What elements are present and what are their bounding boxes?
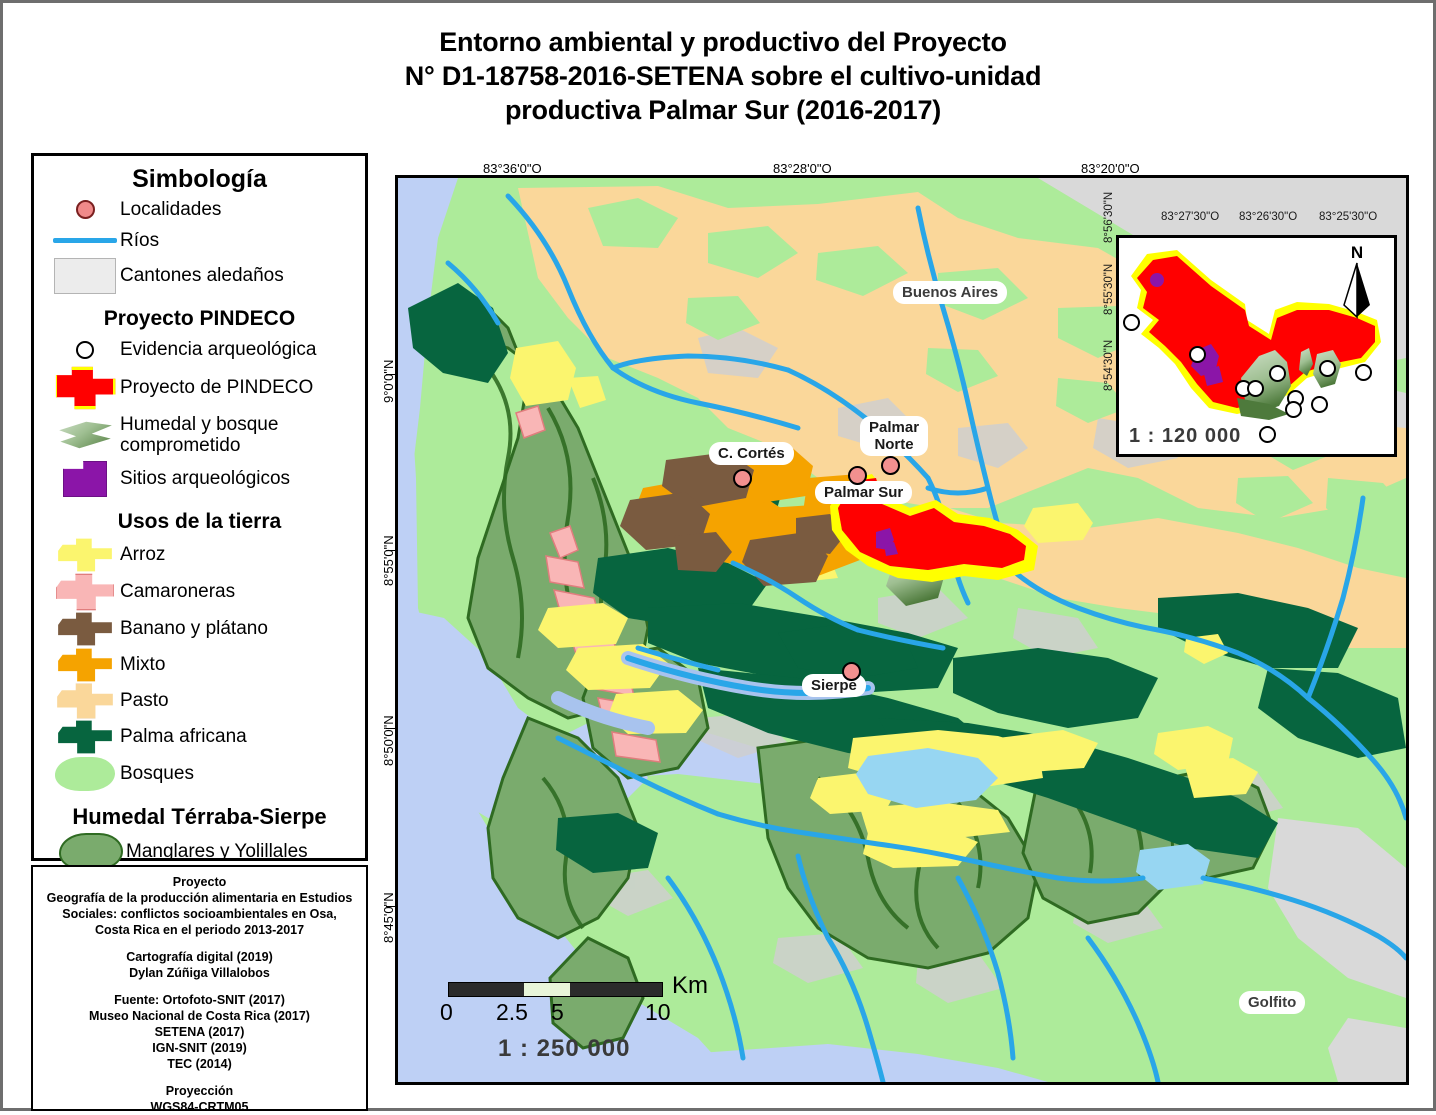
legend-label: Sitios arqueológicos — [120, 468, 290, 490]
pindeco-area-swatch-icon — [50, 365, 120, 411]
credit-line: Proyección — [33, 1083, 366, 1099]
legend-label: Camaroneras — [120, 581, 235, 603]
legend-section-usos: Usos de la tierra — [34, 510, 365, 534]
legend-label: Mixto — [120, 654, 165, 676]
locality-label-palmar-norte: Palmar Norte — [862, 418, 926, 454]
african-palm-swatch-icon — [50, 720, 120, 754]
inset-archaeological-evidence-dot[interactable] — [1355, 364, 1372, 381]
legend-item-banano-platano: Banano y plátano — [34, 611, 365, 647]
archaeological-site-swatch-icon — [50, 461, 120, 497]
legend-item-mixto: Mixto — [34, 647, 365, 683]
locality-dot-icon — [50, 200, 120, 219]
lat-tick-label: 8°50'0"N — [381, 715, 396, 766]
lon-tick-label: 83°28'0"O — [773, 161, 832, 176]
inset-lon-label: 83°25'30"O — [1319, 211, 1377, 223]
river-line-icon — [50, 238, 120, 243]
pasture-swatch-icon — [50, 683, 120, 719]
locality-label-palmar-sur: Palmar Sur — [817, 483, 910, 502]
legend-item-rios: Ríos — [34, 225, 365, 256]
lat-tick-mark — [386, 550, 395, 551]
credit-line: IGN-SNIT (2019) — [33, 1040, 366, 1056]
legend-panel: Simbología Localidades Ríos Cantones ale… — [31, 153, 368, 861]
legend-item-camaroneras: Camaroneras — [34, 573, 365, 611]
lat-tick-label: 8°55'0"N — [381, 535, 396, 586]
lat-tick-label: 9°0'0"N — [381, 360, 396, 403]
inset-archaeological-evidence-dot[interactable] — [1123, 314, 1140, 331]
legend-item-evidencia-arqueologica: Evidencia arqueológica — [34, 334, 365, 365]
lat-tick-mark — [386, 374, 395, 375]
locality-marker-palmar-sur[interactable] — [848, 466, 867, 485]
inset-lon-label: 83°26'30"O — [1239, 211, 1297, 223]
north-arrow-glyph — [1340, 261, 1374, 319]
canton-label-buenos-aires: Buenos Aires — [895, 283, 1005, 302]
legend-label: Manglares y Yolillales — [126, 841, 308, 863]
inset-archaeological-evidence-dot[interactable] — [1269, 365, 1286, 382]
locality-label-c-cortes: C. Cortés — [711, 444, 792, 463]
inset-lat-label: 8°56'30"N — [1103, 192, 1115, 243]
legend-label: Proyecto de PINDECO — [120, 377, 313, 399]
scale-tick-2-5: 2.5 — [496, 999, 528, 1026]
banana-plantain-swatch-icon — [50, 612, 120, 646]
wetland-forest-swatch-icon — [50, 420, 120, 450]
legend-label: Localidades — [120, 199, 221, 221]
scale-tick-10: 10 — [645, 999, 671, 1026]
lat-tick-mark — [386, 906, 395, 907]
credit-line: WGS84-CRTM05 — [33, 1099, 366, 1115]
north-letter: N — [1340, 244, 1374, 261]
scale-tick-0: 0 — [440, 999, 453, 1026]
inset-map[interactable]: N 1 : 120 000 — [1116, 235, 1397, 457]
credit-line: Proyecto — [33, 874, 366, 890]
lon-tick-label: 83°20'0"O — [1081, 161, 1140, 176]
legend-label: Arroz — [120, 544, 165, 566]
title-line-1: Entorno ambiental y productivo del Proye… — [303, 25, 1143, 59]
legend-label: Cantones aledaños — [120, 265, 284, 287]
rice-swatch-icon — [50, 538, 120, 572]
palmar-norte-line1: Palmar — [869, 419, 919, 436]
legend-label: Bosques — [120, 763, 194, 785]
legend-item-bosques: Bosques — [34, 755, 365, 793]
legend-item-cantones: Cantones aledaños — [34, 256, 365, 296]
legend-item-pasto: Pasto — [34, 683, 365, 719]
credit-line: Cartografía digital (2019) — [33, 949, 366, 965]
legend-label: Ríos — [120, 230, 159, 252]
legend-title: Simbología — [34, 165, 365, 194]
legend-item-proyecto-pindeco: Proyecto de PINDECO — [34, 365, 365, 411]
inset-scale-ratio: 1 : 120 000 — [1129, 425, 1241, 448]
mixed-swatch-icon — [50, 648, 120, 682]
canton-swatch-icon — [50, 258, 120, 294]
credit-line: Dylan Zúñiga Villalobos — [33, 965, 366, 981]
locality-marker-palmar-norte[interactable] — [881, 456, 900, 475]
inset-archaeological-evidence-dot[interactable] — [1259, 426, 1276, 443]
scale-unit-label: Km — [672, 972, 708, 1000]
canton-label-golfito: Golfito — [1241, 993, 1303, 1012]
credit-line: Museo Nacional de Costa Rica (2017) — [33, 1008, 366, 1024]
inset-archaeological-evidence-dot[interactable] — [1189, 346, 1206, 363]
legend-item-sitios-arqueologicos: Sitios arqueológicos — [34, 459, 365, 499]
legend-label: Evidencia arqueológica — [120, 339, 316, 361]
inset-archaeological-evidence-dot[interactable] — [1319, 360, 1336, 377]
credit-line: Sociales: conflictos socioambientales en… — [33, 906, 366, 922]
lat-tick-label: 8°45'0"N — [381, 892, 396, 943]
legend-item-localidades: Localidades — [34, 194, 365, 225]
credit-line: Costa Rica en el periodo 2013-2017 — [33, 922, 366, 938]
locality-marker-sierpe[interactable] — [842, 662, 861, 681]
north-arrow: N — [1340, 244, 1374, 324]
shrimp-farm-swatch-icon — [50, 573, 120, 611]
scale-tick-5: 5 — [551, 999, 564, 1026]
credit-line: SETENA (2017) — [33, 1024, 366, 1040]
scale-ratio-label: 1 : 250 000 — [498, 1035, 630, 1063]
credit-line: TEC (2014) — [33, 1056, 366, 1072]
credits-panel: Proyecto Geografía de la producción alim… — [31, 865, 368, 1111]
map-poster: Entorno ambiental y productivo del Proye… — [0, 0, 1436, 1111]
legend-section-pindeco: Proyecto PINDECO — [34, 307, 365, 331]
credit-line: Geografía de la producción alimentaria e… — [33, 890, 366, 906]
scale-bar-graphic — [448, 982, 663, 997]
inset-lat-label: 8°55'30"N — [1103, 264, 1115, 315]
legend-label: Humedal y bosquecomprometido — [120, 414, 278, 456]
lat-tick-mark — [386, 728, 395, 729]
inset-archaeological-evidence-dot[interactable] — [1247, 380, 1264, 397]
inset-lat-label: 8°54'30"N — [1103, 340, 1115, 391]
page-title: Entorno ambiental y productivo del Proye… — [303, 25, 1143, 127]
legend-label: Pasto — [120, 690, 169, 712]
title-line-2: N° D1-18758-2016-SETENA sobre el cultivo… — [303, 59, 1143, 93]
title-line-3: productiva Palmar Sur (2016-2017) — [303, 93, 1143, 127]
palmar-norte-line2: Norte — [874, 436, 913, 453]
archaeological-evidence-dot-icon — [50, 341, 120, 359]
scale-bar: Km 0 2.5 5 10 1 : 250 000 — [448, 982, 663, 997]
locality-marker-c-cortes[interactable] — [733, 469, 752, 488]
credit-line: Fuente: Ortofoto-SNIT (2017) — [33, 992, 366, 1008]
legend-section-humedal: Humedal Térraba-Sierpe — [34, 804, 365, 830]
legend-label: Palma africana — [120, 726, 247, 748]
legend-item-arroz: Arroz — [34, 537, 365, 573]
inset-archaeological-evidence-dot[interactable] — [1311, 396, 1328, 413]
legend-label: Banano y plátano — [120, 618, 268, 640]
forest-swatch-icon — [50, 757, 120, 791]
legend-item-palma-africana: Palma africana — [34, 719, 365, 755]
inset-lon-label: 83°27'30"O — [1161, 211, 1219, 223]
lon-tick-label: 83°36'0"O — [483, 161, 542, 176]
inset-archaeological-evidence-dot[interactable] — [1285, 401, 1302, 418]
legend-item-humedal-bosque: Humedal y bosquecomprometido — [34, 411, 365, 459]
